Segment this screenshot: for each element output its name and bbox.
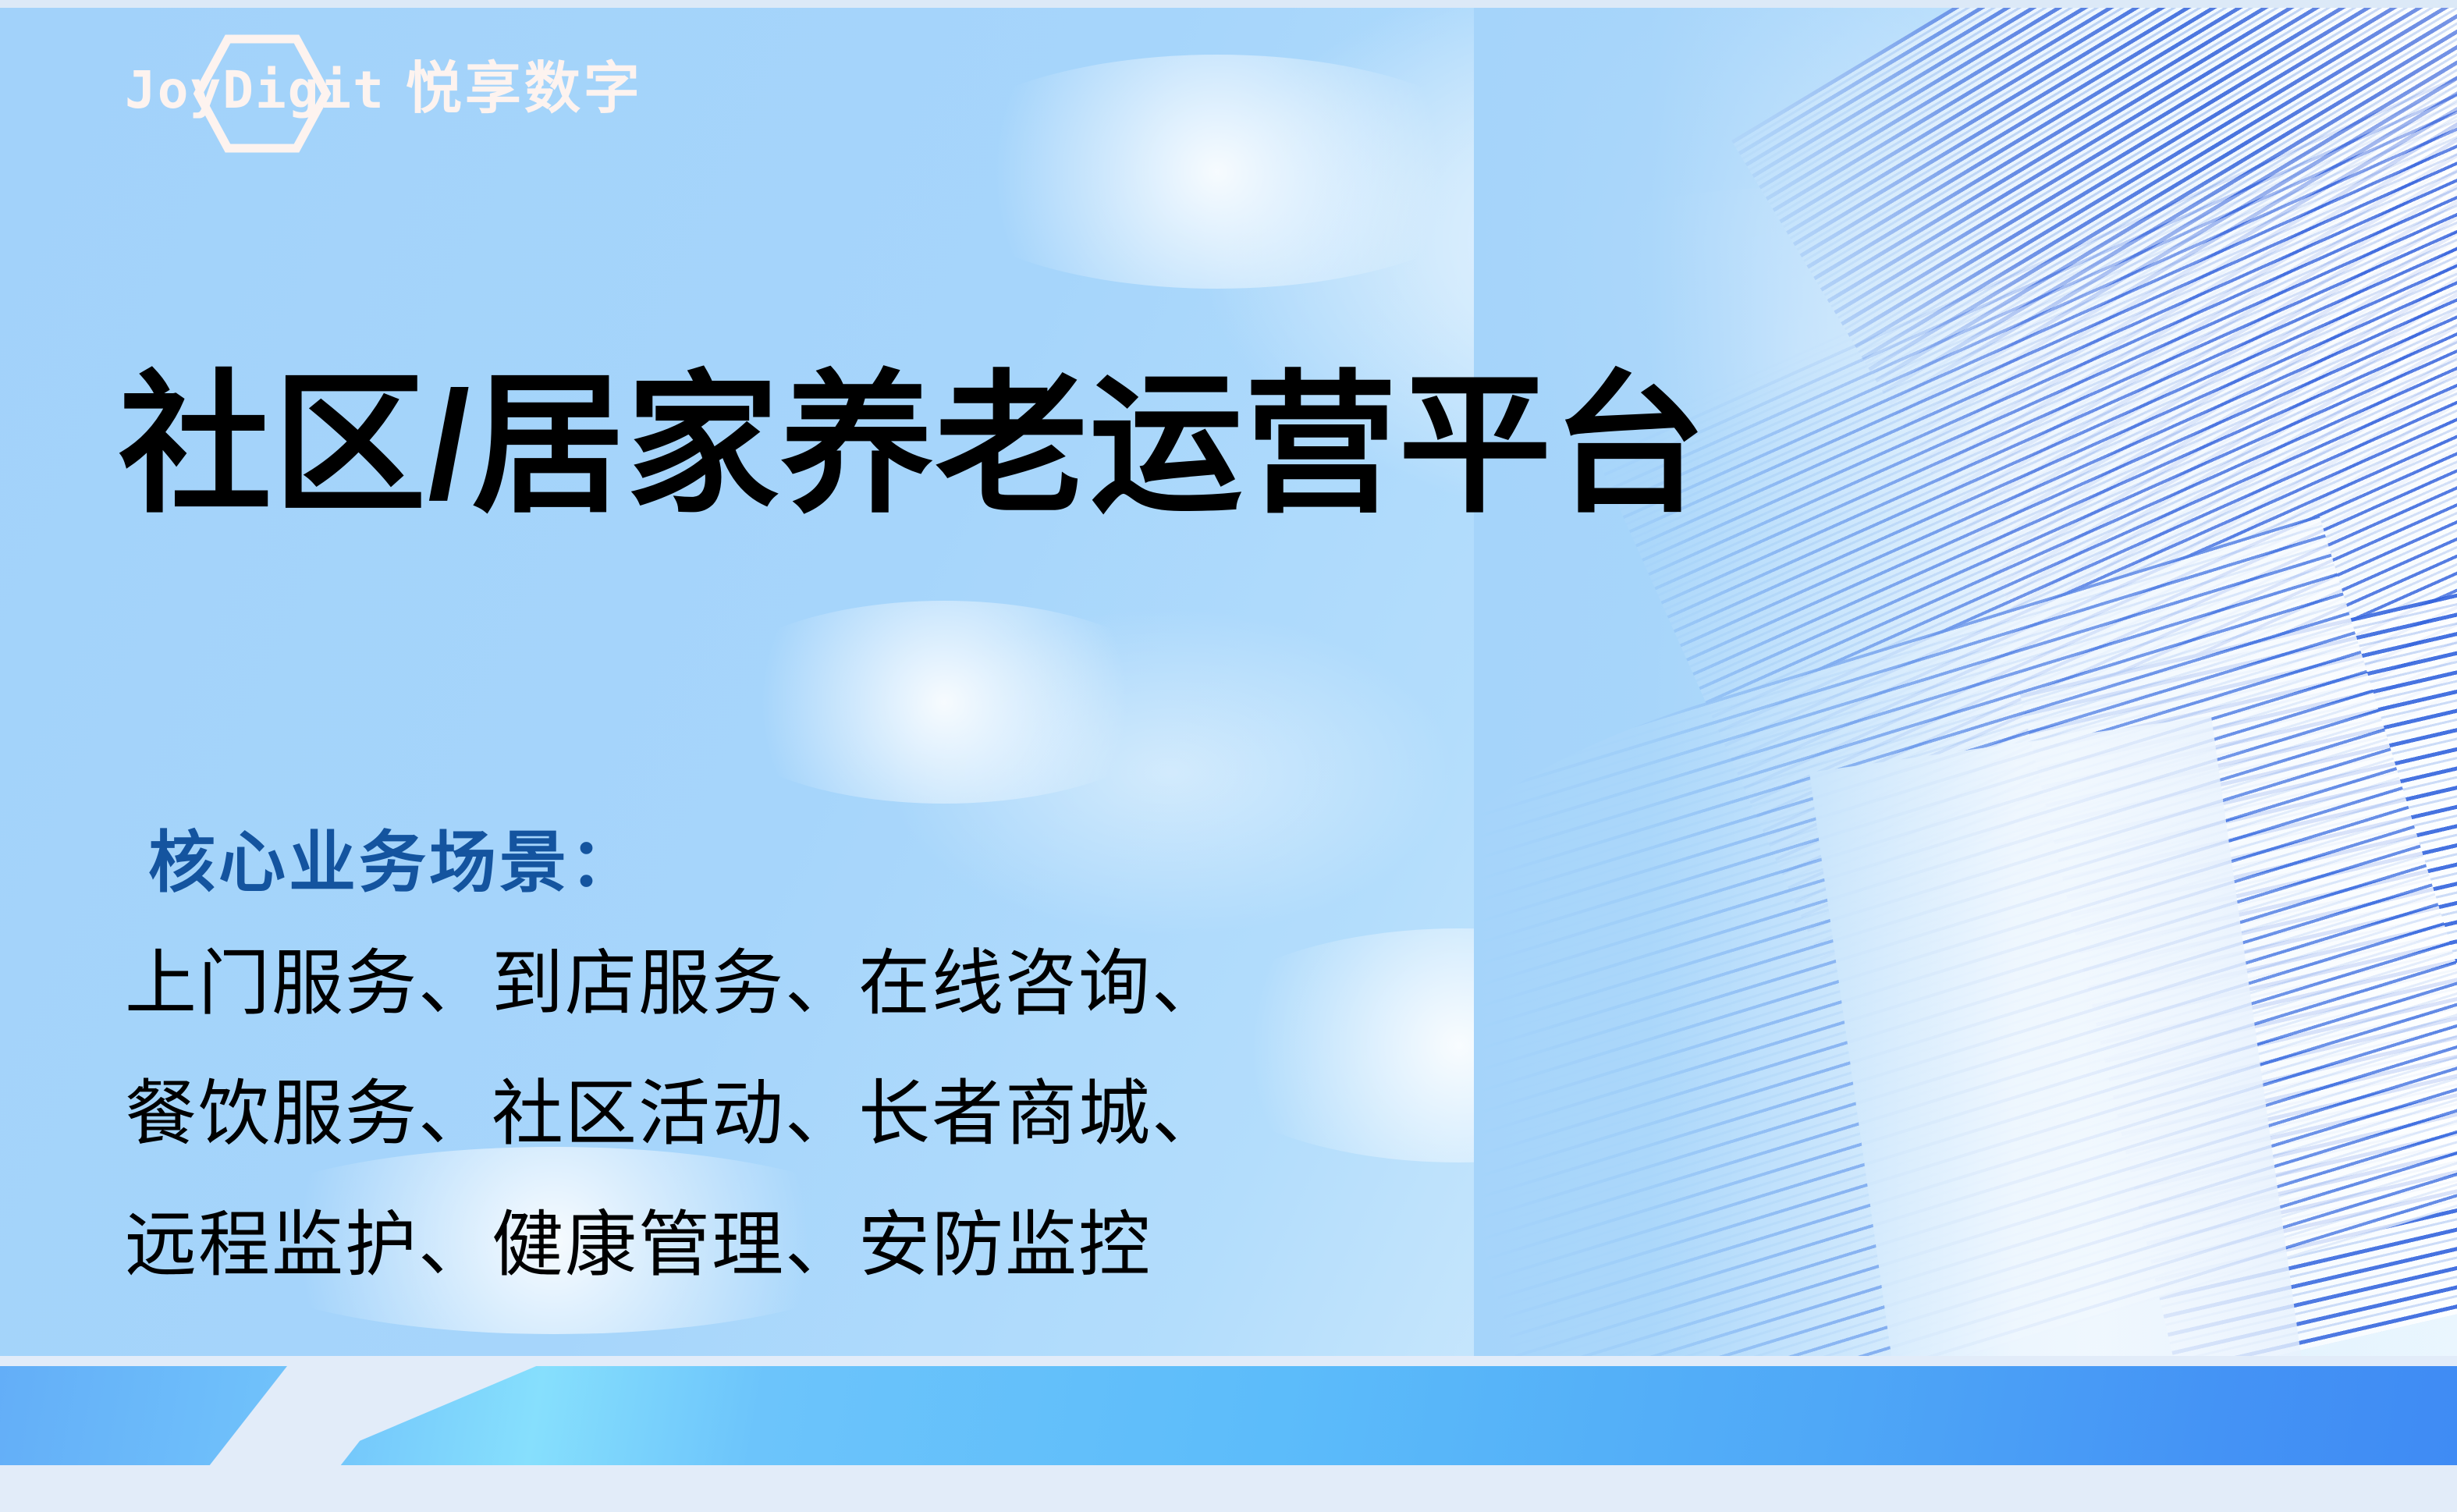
brand-name-en: JoyDigit bbox=[125, 65, 385, 116]
scenario-line: 远程监护、健康管理、安防监控 bbox=[125, 1180, 1607, 1311]
section-subheading: 核心业务场景： bbox=[148, 823, 640, 903]
cloud-shape bbox=[702, 601, 1186, 804]
scenario-list: 上门服务、到店服务、在线咨询、 餐饮服务、社区活动、长者商城、 远程监护、健康管… bbox=[125, 919, 1607, 1311]
scenario-line: 上门服务、到店服务、在线咨询、 bbox=[125, 919, 1607, 1049]
page-title: 社区/居家养老运营平台 bbox=[119, 360, 1707, 531]
footer-corner-cut bbox=[326, 1356, 560, 1455]
brand-name-cn: 悦享数字 bbox=[406, 61, 643, 117]
slide-canvas: JoyDigit 悦享数字 社区/居家养老运营平台 核心业务场景： 上门服务、到… bbox=[0, 0, 2457, 1512]
brand-logo-text: JoyDigit 悦享数字 bbox=[125, 61, 643, 117]
scenario-line: 餐饮服务、社区活动、长者商城、 bbox=[125, 1049, 1607, 1180]
cloud-shape bbox=[1951, 710, 2434, 960]
brand-logo[interactable]: JoyDigit 悦享数字 bbox=[125, 34, 718, 151]
footer-decoration bbox=[0, 1356, 2457, 1512]
cloud-shape bbox=[921, 55, 1514, 289]
